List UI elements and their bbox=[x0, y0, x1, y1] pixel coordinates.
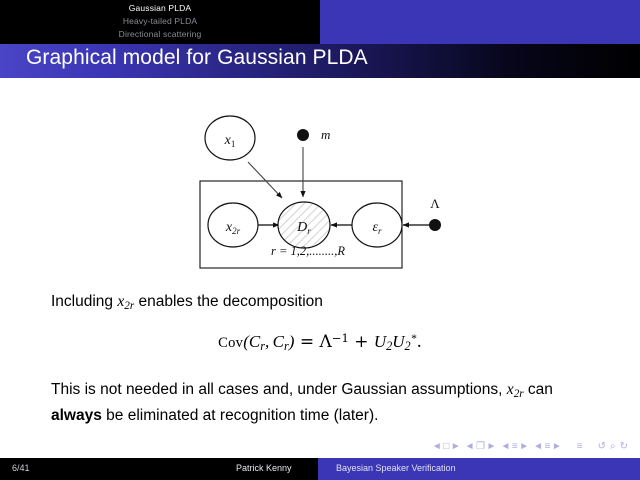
equation-lambda-inverse: Λ−1 bbox=[319, 332, 348, 352]
next-slide-icon[interactable]: ► bbox=[451, 442, 461, 452]
slide: Gaussian PLDA Heavy-tailed PLDA Directio… bbox=[0, 0, 640, 480]
prev-subsection-icon[interactable]: ◄ bbox=[500, 442, 510, 452]
nav-item-gaussian-plda[interactable]: Gaussian PLDA bbox=[129, 2, 191, 15]
next-frame-icon[interactable]: ► bbox=[487, 442, 497, 452]
nav-slide-group[interactable]: ◄ □ ► bbox=[432, 442, 461, 452]
prev-slide-icon[interactable]: ◄ bbox=[432, 442, 442, 452]
node-x2r bbox=[208, 203, 258, 247]
subsection-icon: ≡ bbox=[512, 442, 518, 452]
nav-frame-group[interactable]: ◄ ❐ ► bbox=[465, 442, 497, 452]
node-lambda-label: Λ bbox=[430, 196, 440, 211]
back-icon[interactable]: ↺ bbox=[598, 442, 606, 452]
nav-section-group[interactable]: ◄ ≡ ► bbox=[533, 442, 562, 452]
equation-equals: = bbox=[300, 332, 314, 352]
equation-plus: + bbox=[354, 332, 368, 352]
footer-bar bbox=[0, 458, 640, 480]
equation-u2-term: U2U2* bbox=[374, 332, 417, 351]
section-icon: ≡ bbox=[545, 442, 551, 452]
frame-icon: ❐ bbox=[476, 442, 485, 452]
document-icon[interactable]: ≡ bbox=[577, 442, 583, 452]
intro-variable: x2r bbox=[117, 293, 134, 310]
slide-icon: □ bbox=[443, 442, 449, 452]
next-subsection-icon[interactable]: ► bbox=[519, 442, 529, 452]
intro-suffix: enables the decomposition bbox=[134, 293, 323, 310]
node-lambda-dot bbox=[429, 219, 441, 231]
footer-author: Patrick Kenny bbox=[236, 463, 292, 473]
elimination-paragraph: This is not needed in all cases and, und… bbox=[51, 379, 596, 427]
equation-period: . bbox=[416, 332, 421, 352]
page-number: 6/41 bbox=[12, 463, 30, 473]
para-part3: be eliminated at recognition time (later… bbox=[102, 407, 379, 424]
prev-frame-icon[interactable]: ◄ bbox=[465, 442, 475, 452]
intro-prefix: Including bbox=[51, 293, 117, 310]
para-variable-sub: 2r bbox=[514, 388, 524, 400]
header-bar: Gaussian PLDA Heavy-tailed PLDA Directio… bbox=[0, 0, 640, 44]
decomposition-intro-text: Including x2r enables the decomposition bbox=[51, 293, 323, 312]
covariance-equation: Cov(Cr, Cr) = Λ−1 + U2U2*. bbox=[0, 331, 640, 354]
equation-cov-operator: Cov bbox=[218, 335, 243, 351]
edge-x1-to-Dr bbox=[248, 162, 282, 198]
node-m-label: m bbox=[321, 127, 330, 142]
page-title: Graphical model for Gaussian PLDA bbox=[26, 46, 368, 70]
nav-item-heavy-tailed-plda[interactable]: Heavy-tailed PLDA bbox=[123, 15, 197, 28]
bayesian-network-svg: x1 m x2r Dr εr Λ r = 1,2,........,R bbox=[190, 105, 460, 275]
search-icon[interactable]: ⌕ bbox=[610, 442, 616, 452]
para-variable: x2r bbox=[507, 381, 524, 398]
intro-variable-sub: 2r bbox=[124, 300, 134, 312]
footer-talk-title: Bayesian Speaker Verification bbox=[336, 463, 456, 473]
nav-subsection-group[interactable]: ◄ ≡ ► bbox=[500, 442, 529, 452]
para-variable-base: x bbox=[507, 381, 514, 398]
para-emphasis-always: always bbox=[51, 407, 102, 424]
prev-section-icon[interactable]: ◄ bbox=[533, 442, 543, 452]
section-navigation: Gaussian PLDA Heavy-tailed PLDA Directio… bbox=[0, 0, 320, 44]
graphical-model-diagram: x1 m x2r Dr εr Λ r = 1,2,........,R bbox=[190, 105, 460, 275]
next-section-icon[interactable]: ► bbox=[552, 442, 562, 452]
nav-item-directional-scattering[interactable]: Directional scattering bbox=[119, 28, 202, 41]
forward-icon[interactable]: ↻ bbox=[620, 442, 628, 452]
node-m-dot bbox=[297, 129, 309, 141]
beamer-navigation-symbols[interactable]: ◄ □ ► ◄ ❐ ► ◄ ≡ ► ◄ ≡ ► ≡ ↺ ⌕ ↻ bbox=[432, 440, 628, 454]
para-part2: can bbox=[524, 381, 553, 398]
para-part1: This is not needed in all cases and, und… bbox=[51, 381, 507, 398]
plate-label: r = 1,2,........,R bbox=[271, 244, 345, 258]
equation-arguments: (Cr, Cr) bbox=[243, 332, 294, 351]
